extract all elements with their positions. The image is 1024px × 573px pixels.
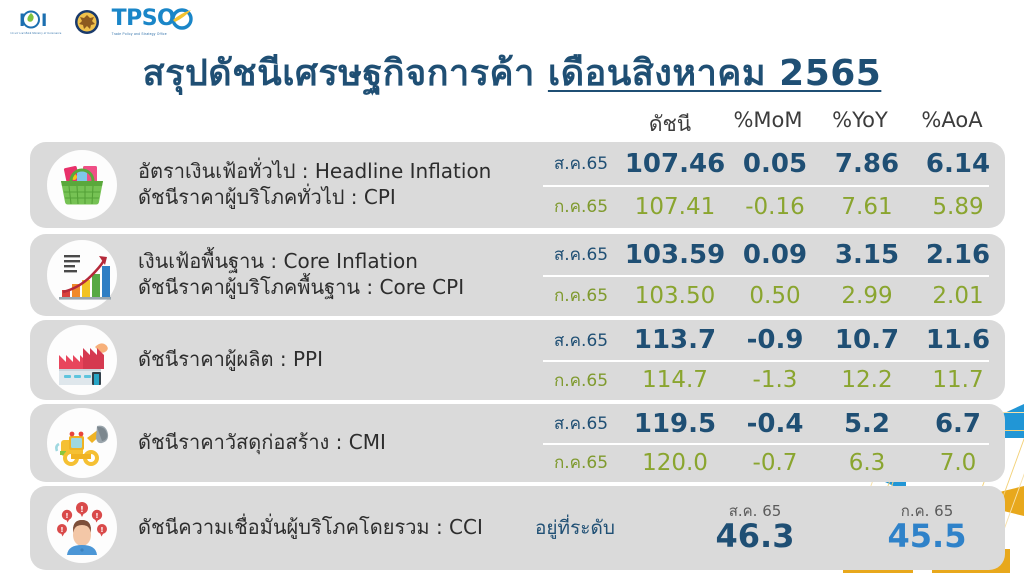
excavator-icon bbox=[30, 404, 134, 482]
value-mom-current: 0.09 bbox=[727, 240, 823, 270]
values-current: ส.ค.65 119.5 -0.4 5.2 6.7 bbox=[535, 404, 1005, 443]
value-period-previous: ก.ค.65 bbox=[543, 449, 619, 476]
value-aoa-current: 11.6 bbox=[911, 325, 1005, 355]
value-mom-current: -0.4 bbox=[727, 409, 823, 439]
value-yoy-previous: 6.3 bbox=[820, 450, 914, 476]
value-yoy-previous: 12.2 bbox=[820, 367, 914, 393]
factory-icon bbox=[30, 320, 134, 400]
garuda-emblem bbox=[74, 9, 100, 35]
value-index-current: 107.46 bbox=[623, 149, 727, 179]
value-index-current: 113.7 bbox=[623, 325, 727, 355]
page-title-part1: สรุปดัชนีเศรษฐกิจการค้า bbox=[143, 53, 548, 94]
indicator-label-headline: อัตราเงินเฟ้อทั่วไป : Headline Inflation… bbox=[134, 159, 535, 210]
indicator-label-line2: ดัชนีราคาผู้บริโภคทั่วไป : CPI bbox=[138, 185, 535, 211]
values-previous: ก.ค.65 103.50 0.50 2.99 2.01 bbox=[535, 275, 1005, 316]
tpso-logo-subtitle: Trade Policy and Strategy Office bbox=[112, 32, 167, 36]
cci-current: ส.ค. 65 46.3 bbox=[685, 503, 825, 553]
value-aoa-current: 6.14 bbox=[911, 149, 1005, 179]
value-index-previous: 114.7 bbox=[623, 367, 727, 393]
indicator-label-cci: ดัชนีความเชื่อมั่นผู้บริโภคโดยรวม : CCI bbox=[134, 515, 535, 541]
column-header-mom: %MoM bbox=[718, 108, 818, 132]
value-period-current: ส.ค.65 bbox=[543, 327, 619, 354]
consumer-confidence-icon: ! ! ! ! ! bbox=[30, 486, 134, 570]
value-mom-previous: -1.3 bbox=[727, 367, 823, 393]
value-mom-previous: 0.50 bbox=[727, 283, 823, 309]
bar-chart-growth-icon bbox=[30, 234, 134, 316]
moc-logo: I I กระทรวงพาณิชย์ Ministry of Commerce bbox=[10, 8, 62, 36]
tpso-swoosh-icon bbox=[171, 8, 193, 30]
cci-values: ส.ค. 65 46.3 ก.ค. 65 45.5 bbox=[685, 486, 1005, 570]
shopping-basket-icon bbox=[30, 142, 134, 228]
indicator-label-ppi: ดัชนีราคาผู้ผลิต : PPI bbox=[134, 347, 535, 373]
svg-text:!: ! bbox=[80, 505, 84, 514]
indicator-card-cci[interactable]: ! ! ! ! ! ดัชนีความเชื่อมั่นผู้บริโภคโดย… bbox=[30, 486, 1005, 570]
value-aoa-current: 2.16 bbox=[911, 240, 1005, 270]
moc-logo-icon: I I bbox=[19, 8, 53, 32]
indicator-values-ppi: ส.ค.65 113.7 -0.9 10.7 11.6 ก.ค.65 114.7… bbox=[535, 320, 1005, 400]
tpso-logo: TPSO Trade Policy and Strategy Office bbox=[112, 8, 194, 36]
indicator-card-ppi[interactable]: ดัชนีราคาผู้ผลิต : PPI ส.ค.65 113.7 -0.9… bbox=[30, 320, 1005, 400]
value-yoy-current: 3.15 bbox=[820, 240, 914, 270]
column-header-yoy: %YoY bbox=[812, 108, 908, 132]
page-title: สรุปดัชนีเศรษฐกิจการค้า เดือนสิงหาคม 256… bbox=[0, 44, 1024, 101]
indicator-label-line2: ดัชนีราคาผู้บริโภคพื้นฐาน : Core CPI bbox=[138, 275, 535, 301]
svg-text:!: ! bbox=[65, 512, 68, 520]
value-aoa-previous: 7.0 bbox=[911, 450, 1005, 476]
indicator-label-line1: ดัชนีราคาวัสดุก่อสร้าง : CMI bbox=[138, 430, 535, 456]
cci-previous: ก.ค. 65 45.5 bbox=[857, 503, 997, 553]
indicator-label-core: เงินเฟ้อพื้นฐาน : Core Inflation ดัชนีรา… bbox=[134, 249, 535, 300]
value-period-current: ส.ค.65 bbox=[543, 410, 619, 437]
indicator-values-headline: ส.ค.65 107.46 0.05 7.86 6.14 ก.ค.65 107.… bbox=[535, 142, 1005, 228]
page-title-part2: เดือนสิงหาคม 2565 bbox=[548, 53, 881, 94]
value-period-previous: ก.ค.65 bbox=[543, 367, 619, 394]
logo-bar: I I กระทรวงพาณิชย์ Ministry of Commerce … bbox=[10, 4, 193, 40]
value-mom-previous: -0.16 bbox=[727, 194, 823, 220]
indicator-values-cmi: ส.ค.65 119.5 -0.4 5.2 6.7 ก.ค.65 120.0 -… bbox=[535, 404, 1005, 482]
value-period-previous: ก.ค.65 bbox=[543, 282, 619, 309]
values-previous: ก.ค.65 120.0 -0.7 6.3 7.0 bbox=[535, 443, 1005, 482]
indicator-values-core: ส.ค.65 103.59 0.09 3.15 2.16 ก.ค.65 103.… bbox=[535, 234, 1005, 316]
value-yoy-previous: 2.99 bbox=[820, 283, 914, 309]
values-current: ส.ค.65 103.59 0.09 3.15 2.16 bbox=[535, 234, 1005, 275]
indicator-card-cmi[interactable]: ดัชนีราคาวัสดุก่อสร้าง : CMI ส.ค.65 119.… bbox=[30, 404, 1005, 482]
cci-level-text: อยู่ที่ระดับ bbox=[535, 513, 685, 543]
value-period-current: ส.ค.65 bbox=[543, 241, 619, 268]
indicator-label-line1: ดัชนีราคาผู้ผลิต : PPI bbox=[138, 347, 535, 373]
garuda-emblem-icon bbox=[74, 9, 100, 35]
value-yoy-current: 5.2 bbox=[820, 409, 914, 439]
value-index-previous: 120.0 bbox=[623, 450, 727, 476]
indicator-card-headline-inflation[interactable]: อัตราเงินเฟ้อทั่วไป : Headline Inflation… bbox=[30, 142, 1005, 228]
tpso-logo-text: TPSO bbox=[112, 8, 176, 30]
moc-logo-subtitle: กระทรวงพาณิชย์ Ministry of Commerce bbox=[10, 33, 62, 36]
column-header-row: ดัชนี %MoM %YoY %AoA bbox=[0, 108, 1024, 140]
value-mom-current: 0.05 bbox=[727, 149, 823, 179]
values-current: ส.ค.65 107.46 0.05 7.86 6.14 bbox=[535, 142, 1005, 185]
value-mom-current: -0.9 bbox=[727, 325, 823, 355]
indicator-label-line1: เงินเฟ้อพื้นฐาน : Core Inflation bbox=[138, 249, 535, 275]
svg-text:!: ! bbox=[60, 526, 63, 534]
value-mom-previous: -0.7 bbox=[727, 450, 823, 476]
value-index-previous: 107.41 bbox=[623, 194, 727, 220]
indicator-label-line1: ดัชนีความเชื่อมั่นผู้บริโภคโดยรวม : CCI bbox=[138, 515, 535, 541]
value-aoa-current: 6.7 bbox=[911, 409, 1005, 439]
svg-text:!: ! bbox=[100, 526, 103, 534]
values-previous: ก.ค.65 114.7 -1.3 12.2 11.7 bbox=[535, 360, 1005, 400]
value-aoa-previous: 11.7 bbox=[911, 367, 1005, 393]
values-previous: ก.ค.65 107.41 -0.16 7.61 5.89 bbox=[535, 185, 1005, 228]
value-aoa-previous: 5.89 bbox=[911, 194, 1005, 220]
value-yoy-previous: 7.61 bbox=[820, 194, 914, 220]
indicator-card-core-inflation[interactable]: เงินเฟ้อพื้นฐาน : Core Inflation ดัชนีรา… bbox=[30, 234, 1005, 316]
value-index-previous: 103.50 bbox=[623, 283, 727, 309]
value-yoy-current: 7.86 bbox=[820, 149, 914, 179]
values-current: ส.ค.65 113.7 -0.9 10.7 11.6 bbox=[535, 320, 1005, 360]
indicator-label-line1: อัตราเงินเฟ้อทั่วไป : Headline Inflation bbox=[138, 159, 535, 185]
cci-current-value: 46.3 bbox=[685, 519, 825, 553]
value-index-current: 103.59 bbox=[623, 240, 727, 270]
column-header-aoa: %AoA bbox=[902, 108, 1002, 132]
svg-text:I: I bbox=[41, 11, 47, 31]
svg-text:!: ! bbox=[95, 512, 98, 520]
value-period-previous: ก.ค.65 bbox=[543, 193, 619, 220]
cci-previous-value: 45.5 bbox=[857, 519, 997, 553]
infographic-canvas: I I กระทรวงพาณิชย์ Ministry of Commerce … bbox=[0, 0, 1024, 573]
value-aoa-previous: 2.01 bbox=[911, 283, 1005, 309]
value-index-current: 119.5 bbox=[623, 409, 727, 439]
value-period-current: ส.ค.65 bbox=[543, 150, 619, 177]
value-yoy-current: 10.7 bbox=[820, 325, 914, 355]
indicator-label-cmi: ดัชนีราคาวัสดุก่อสร้าง : CMI bbox=[134, 430, 535, 456]
column-header-index: ดัชนี bbox=[620, 108, 720, 141]
